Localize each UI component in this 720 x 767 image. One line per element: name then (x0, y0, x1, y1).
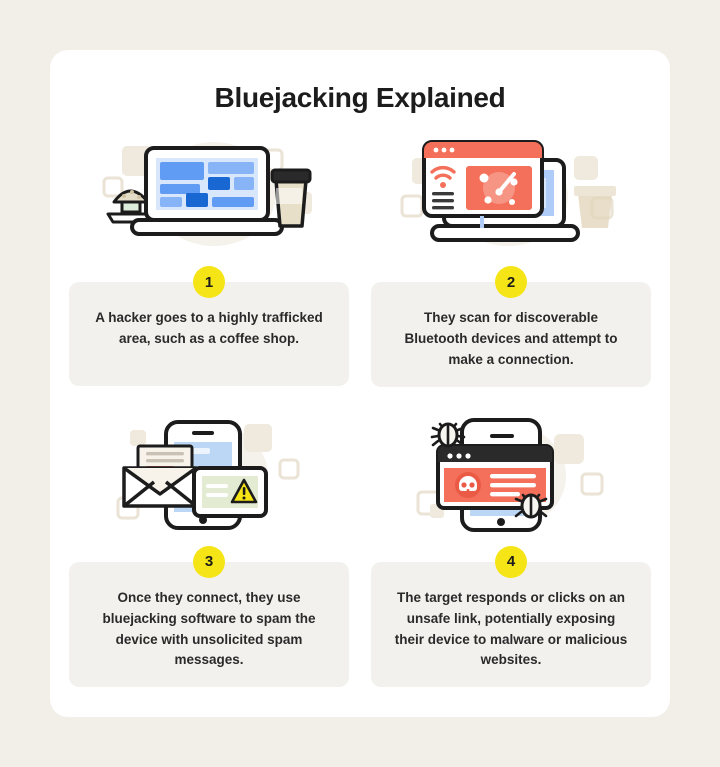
step-badge-4: 4 (495, 546, 527, 578)
infographic-card: Bluejacking Explained (50, 50, 670, 717)
step-item-2: 2 They scan for discoverable Bluetooth d… (370, 136, 652, 408)
step-badge-3: 3 (193, 546, 225, 578)
step-badge-2: 2 (495, 266, 527, 298)
step-text-3: Once they connect, they use bluejacking … (69, 562, 349, 688)
step-item-4: 4 The target responds or clicks on an un… (370, 416, 652, 688)
step-item-3: 3 Once they connect, they use bluejackin… (68, 416, 350, 688)
step-item-1: 1 A hacker goes to a highly trafficked a… (68, 136, 350, 408)
step-body-4: 4 The target responds or clicks on an un… (371, 546, 651, 688)
laptop-coffee-shop-illustration (69, 136, 349, 254)
step-text-4: The target responds or clicks on an unsa… (371, 562, 651, 688)
steps-grid: 1 A hacker goes to a highly trafficked a… (50, 114, 670, 687)
step-body-3: 3 Once they connect, they use bluejackin… (69, 546, 349, 688)
step-body-1: 1 A hacker goes to a highly trafficked a… (69, 266, 349, 386)
step-body-2: 2 They scan for discoverable Bluetooth d… (371, 266, 651, 387)
page-title: Bluejacking Explained (50, 50, 670, 114)
phone-spam-message-illustration (69, 416, 349, 534)
phone-malware-illustration (371, 416, 651, 534)
step-badge-1: 1 (193, 266, 225, 298)
laptop-scanning-illustration (371, 136, 651, 254)
